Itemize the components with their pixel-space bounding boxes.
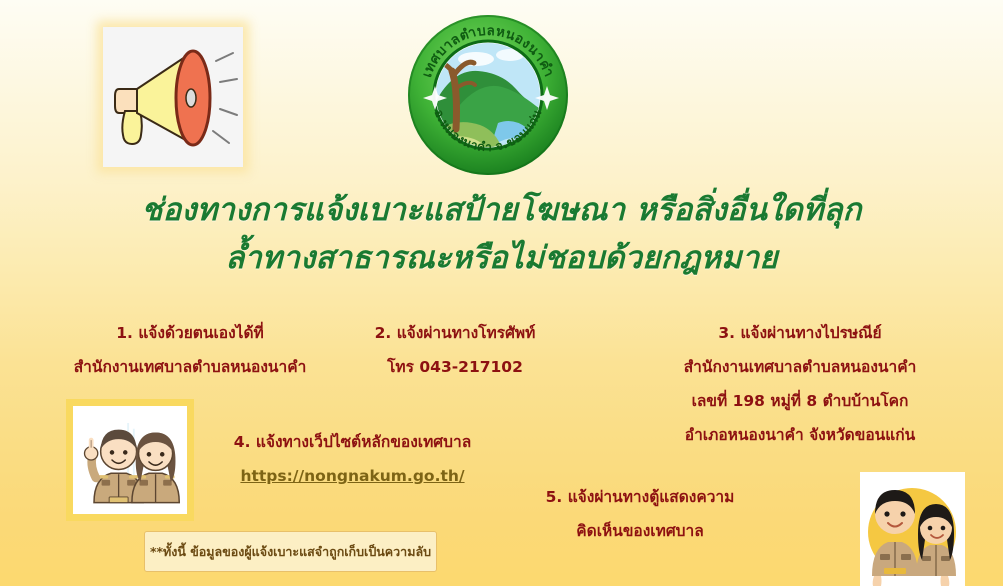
channel-telephone: 2. แจ้งผ่านทางโทรศัพท์ โทร 043-217102 — [330, 316, 580, 384]
channel-postal-office: สำนักงานเทศบาลตำบลหนองนาคำ — [600, 350, 1000, 384]
channel-suggestion-box-title: 5. แจ้งผ่านทางตู้แสดงความ — [490, 480, 790, 514]
channel-postal-address: เลขที่ 198 หมู่ที่ 8 ตำบบ้านโคก — [600, 384, 1000, 418]
poster-canvas: เทศบาลตำบลหนองนาคำ อ.หนองนาคำ จ.ขอนแก่น … — [0, 0, 1003, 586]
confidentiality-note-text: **ทั้งนี้ ข้อมูลของผู้แจ้งเบาะแสจำถูกเก็… — [150, 542, 431, 562]
channel-website-title: 4. แจ้งทางเว็ปไซต์หลักของเทศบาล — [190, 425, 515, 459]
channel-in-person-line-2: สำนักงานเทศบาลตำบลหนองนาคำ — [35, 350, 345, 384]
megaphone-icon — [103, 27, 243, 167]
channel-in-person: 1. แจ้งด้วยตนเองได้ที่ สำนักงานเทศบาลตำบ… — [35, 316, 345, 384]
channel-postal-district: อำเภอหนองนาคำ จังหวัดขอนแก่น — [600, 418, 1000, 452]
channel-suggestion-box-line-2: คิดเห็นของเทศบาล — [490, 514, 790, 548]
channel-in-person-title: 1. แจ้งด้วยตนเองได้ที่ — [35, 316, 345, 350]
officials-illustration-left — [66, 399, 194, 521]
headline-line-2: ล้ำทางสาธารณะหรือไม่ชอบด้วยกฎหมาย — [0, 234, 1003, 282]
channel-telephone-number: โทร 043-217102 — [330, 350, 580, 384]
channel-postal: 3. แจ้งผ่านทางไปรษณีย์ สำนักงานเทศบาลตำบ… — [600, 316, 1000, 452]
channel-website: 4. แจ้งทางเว็ปไซต์หลักของเทศบาล https://… — [190, 425, 515, 493]
channel-suggestion-box: 5. แจ้งผ่านทางตู้แสดงความ คิดเห็นของเทศบ… — [490, 480, 790, 548]
officials-illustration-right — [860, 472, 965, 586]
confidentiality-note: **ทั้งนี้ ข้อมูลของผู้แจ้งเบาะแสจำถูกเก็… — [144, 531, 437, 572]
municipal-seal-logo: เทศบาลตำบลหนองนาคำ อ.หนองนาคำ จ.ขอนแก่น — [406, 13, 570, 177]
channel-telephone-title: 2. แจ้งผ่านทางโทรศัพท์ — [330, 316, 580, 350]
poster-headline: ช่องทางการแจ้งเบาะแสป้ายโฆษณา หรือสิ่งอื… — [0, 186, 1003, 282]
channel-postal-title: 3. แจ้งผ่านทางไปรษณีย์ — [600, 316, 1000, 350]
municipality-website-link[interactable]: https://nongnakum.go.th/ — [240, 467, 464, 485]
headline-line-1: ช่องทางการแจ้งเบาะแสป้ายโฆษณา หรือสิ่งอื… — [0, 186, 1003, 234]
